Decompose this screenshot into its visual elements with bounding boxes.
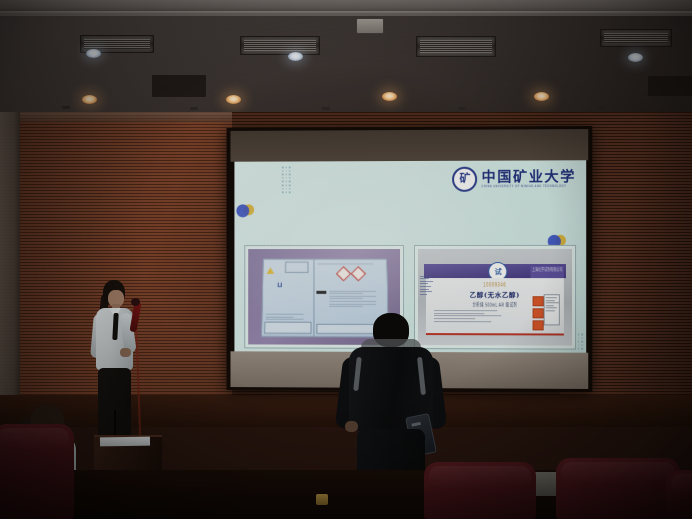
ceiling-slot-5 [598, 106, 606, 109]
ceiling [0, 0, 692, 116]
university-crest-icon: 矿 [452, 167, 477, 192]
downlight-warm-3 [382, 92, 397, 101]
seat-front-right-2[interactable] [556, 458, 680, 519]
paper-cup [316, 494, 328, 505]
seat-front-left[interactable] [0, 424, 74, 519]
university-name-en: CHINA UNIVERSITY OF MINING AND TECHNOLOG… [482, 185, 577, 189]
microphone-head-icon [131, 298, 140, 306]
ghs-pictograms [316, 266, 385, 284]
seat-front-right-1[interactable] [424, 462, 536, 519]
podium-paper [100, 437, 150, 447]
ceiling-slot-2 [190, 107, 198, 110]
seat-front-right-3[interactable] [666, 470, 692, 519]
ceiling-vent-2 [240, 36, 320, 55]
hazard-pictogram-stack [532, 296, 543, 330]
product-code: 10009346 [426, 280, 565, 288]
standing-attendee-hand [345, 421, 358, 432]
warning-triangle-icon [266, 261, 274, 279]
handheld-microphone[interactable] [129, 302, 141, 333]
university-logo: 矿 中国矿业大学 CHINA UNIVERSITY OF MINING AND … [452, 166, 576, 192]
smoke-detector [356, 18, 384, 34]
ceiling-slot-3 [322, 107, 330, 110]
ceiling-panel-dark-2 [648, 76, 692, 96]
wall-upper-band [0, 112, 232, 122]
downlight-cool-2 [288, 52, 303, 61]
downlight-cool-3 [628, 53, 643, 62]
ceiling-vent-3 [416, 36, 496, 57]
university-name-cn: 中国矿业大学 [482, 170, 577, 184]
ceiling-cornice-highlight [0, 11, 692, 16]
ceiling-slot-4 [458, 107, 466, 110]
msds-symbol: ⊔ [277, 281, 283, 289]
ceiling-vent-4 [600, 29, 672, 47]
downlight-warm-1 [82, 95, 97, 104]
screen-border-top [230, 129, 588, 162]
downlight-warm-4 [534, 92, 549, 101]
label-side-text-block [544, 295, 560, 326]
downlight-warm-2 [226, 95, 241, 104]
ceiling-panel-dark-1 [152, 75, 206, 97]
lecture-hall-photo: 矿 中国矿业大学 CHINA UNIVERSITY OF MINING AND … [0, 0, 692, 519]
downlight-cool-1 [86, 49, 101, 58]
dot-grid-top-left-icon [282, 166, 291, 193]
speaker-hand [120, 348, 131, 357]
ceiling-slot-1 [62, 106, 70, 109]
circle-pair-left-icon [236, 204, 256, 217]
wall-column-left [0, 112, 20, 412]
